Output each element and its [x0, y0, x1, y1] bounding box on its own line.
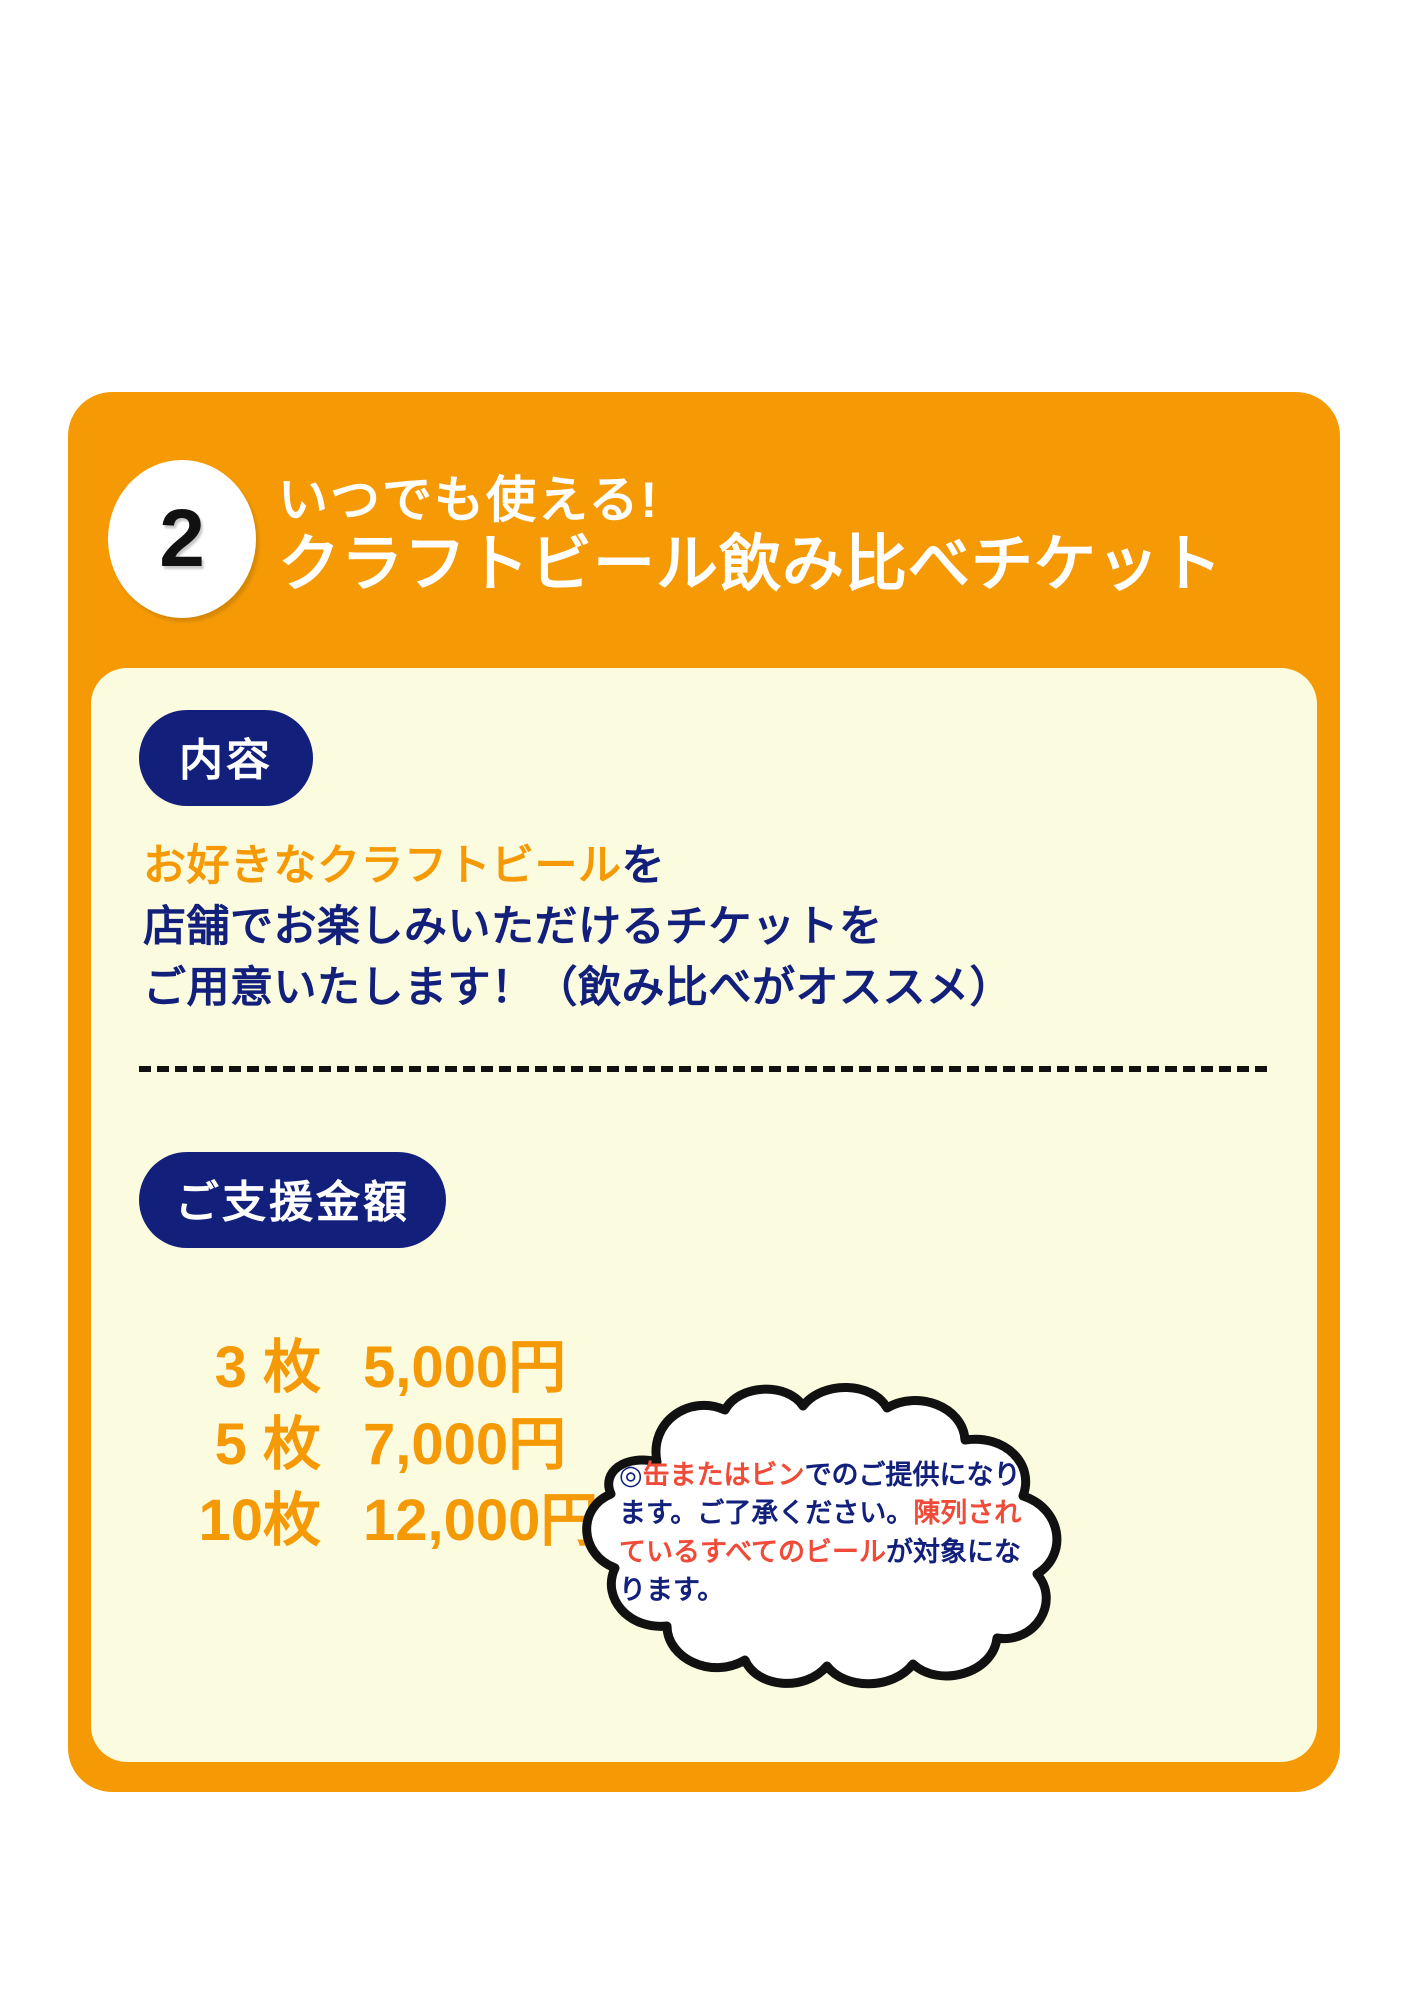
description-line-2: 店舗でお楽しみいただけるチケットを — [143, 897, 1013, 958]
price-quantity: 5 枚 — [131, 1407, 321, 1484]
price-amount: 7,000円 — [363, 1407, 566, 1484]
header-titles: いつでも使える! クラフトビール飲み比べチケット — [278, 472, 1223, 601]
price-quantity: 3 枚 — [131, 1330, 321, 1407]
price-quantity: 10枚 — [131, 1483, 321, 1560]
description-line1-rest: を — [622, 842, 666, 890]
support-amount-badge: ご支援金額 — [139, 1152, 446, 1248]
reward-number: 2 — [159, 498, 205, 580]
header-title-line1: いつでも使える! — [278, 472, 1223, 528]
note-segment-navy-1: でのご提供にな — [805, 1460, 994, 1490]
section-divider — [139, 1066, 1267, 1072]
description-highlight: お好きなクラフトビール — [143, 842, 622, 890]
price-row: 5 枚 7,000円 — [131, 1407, 598, 1484]
card-header: 2 いつでも使える! クラフトビール飲み比べチケット — [68, 392, 1340, 668]
price-row: 3 枚 5,000円 — [131, 1330, 598, 1407]
card-body-panel: 内容 お好きなクラフトビールを 店舗でお楽しみいただけるチケットを ご用意いたし… — [91, 668, 1317, 1762]
description-line-1: お好きなクラフトビールを — [143, 836, 1013, 897]
price-row: 10枚 12,000円 — [131, 1483, 598, 1560]
content-badge: 内容 — [139, 710, 313, 806]
description-line-3: ご用意いたします！（飲み比べがオススメ） — [143, 958, 1013, 1019]
price-amount: 5,000円 — [363, 1330, 566, 1407]
reward-number-badge: 2 — [108, 460, 256, 618]
price-list: 3 枚 5,000円 5 枚 7,000円 10枚 12,000円 — [131, 1330, 598, 1560]
note-speech-bubble: ◎缶またはビンでのご提供になります。ご了承ください。陳列されているすべてのビール… — [561, 1388, 1081, 1688]
header-title-line2: クラフトビール飲み比べチケット — [278, 528, 1223, 601]
reward-card: 2 いつでも使える! クラフトビール飲み比べチケット 内容 お好きなクラフトビー… — [68, 392, 1340, 1792]
note-segment-red-1: 缶またはビン — [643, 1460, 805, 1490]
content-description: お好きなクラフトビールを 店舗でお楽しみいただけるチケットを ご用意いたします！… — [143, 836, 1013, 1019]
note-mark: ◎ — [619, 1460, 643, 1490]
note-text: ◎缶またはビンでのご提供になります。ご了承ください。陳列されているすべてのビール… — [619, 1456, 1039, 1609]
